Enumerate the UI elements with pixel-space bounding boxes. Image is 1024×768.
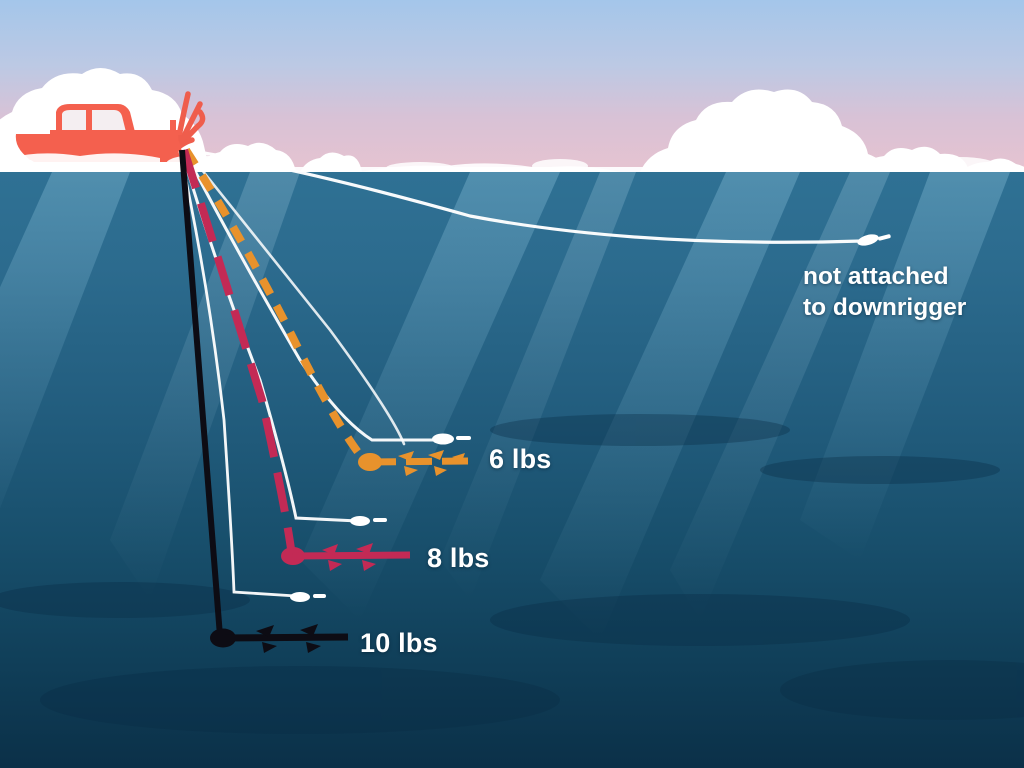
annotation-line-2: to downrigger	[803, 292, 966, 323]
annotation-line-1: not attached	[803, 261, 966, 292]
scene-illustration	[0, 0, 1024, 768]
annotation-not-attached: not attached to downrigger	[803, 261, 966, 323]
illustration-canvas: 6 lbs 8 lbs 10 lbs not attached to downr…	[0, 0, 1024, 768]
